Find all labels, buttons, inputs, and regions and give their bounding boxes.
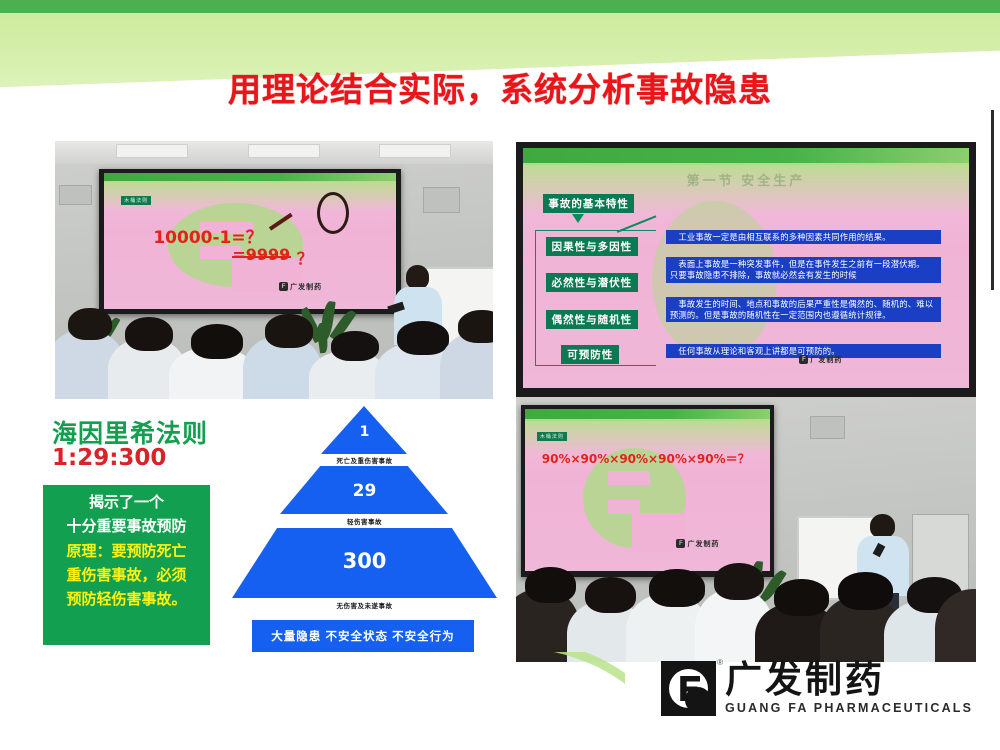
- slide-section-title: 第一节 安全生产: [523, 170, 968, 189]
- slide-heading: 事故的基本特性: [543, 194, 634, 213]
- audience: [55, 291, 493, 399]
- characteristic-item-3: 偶然性与随机性: [546, 310, 639, 329]
- characteristic-desc-1: 工业事故一定是由相互联系的多种因素共同作用的结果。: [666, 230, 941, 245]
- brand-mark-icon: F: [799, 355, 808, 364]
- audience-head: [125, 317, 173, 352]
- audience-head: [774, 579, 829, 616]
- audience-head: [714, 563, 765, 600]
- pyramid-base-label: 大量隐患 不安全状态 不安全行为: [271, 628, 454, 644]
- statement-line-2: 十分重要事故预防: [49, 514, 204, 538]
- audience: [516, 540, 976, 662]
- statement-line-1: 揭示了一个: [49, 490, 204, 514]
- slide-brand-logo: F 广发制药: [799, 355, 842, 365]
- heinrich-statement-box: 揭示了一个 十分重要事故预防 原理：要预防死亡 重伤害事故，必须 预防轻伤害事故…: [43, 485, 210, 645]
- wall-speaker: [423, 187, 460, 212]
- audience-head: [265, 314, 313, 348]
- registered-mark: ®: [717, 658, 723, 667]
- projection-screen: 第一节 安全生产 事故的基本特性 因果性与多因性 必然性与潜伏性 偶然性与随机性…: [516, 142, 976, 397]
- projected-slide: 木桶法则 10000-1=？ =9999 ？ F 广发制药: [104, 173, 397, 309]
- guangfa-mark-icon: ®: [661, 661, 716, 716]
- presenter-head: [870, 514, 895, 538]
- bottom-green-swoosh: [495, 652, 625, 698]
- characteristic-item-2: 必然性与潜伏性: [546, 273, 639, 292]
- company-name-cn: 广发制药: [725, 661, 973, 698]
- heinrich-ratio: 1:29:300: [52, 445, 166, 471]
- company-name-en: GUANG FA PHARMACEUTICALS: [725, 701, 973, 715]
- audience-head: [68, 308, 112, 341]
- page-title: 用理论结合实际，系统分析事故隐患: [0, 63, 1000, 111]
- presenter-head: [406, 265, 429, 289]
- pyramid-value-2: 29: [232, 481, 497, 501]
- audience-head: [525, 567, 576, 604]
- lecture-photo-top-left: 木桶法则 10000-1=？ =9999 ？ F 广发制药: [55, 141, 493, 399]
- wall-vent: [59, 185, 92, 205]
- right-edge-line: [991, 110, 994, 290]
- pyramid-caption-2: 轻伤害事故: [232, 516, 497, 526]
- audience-head: [191, 324, 244, 359]
- presentation-slide: 用理论结合实际，系统分析事故隐患 木桶法则 10000-1=？ =9999: [0, 0, 1000, 750]
- audience-head: [331, 331, 379, 361]
- characteristic-desc-2: 表面上事故是一种突发事件，但是在事件发生之前有一段潜伏期。 只要事故隐患不排除，…: [666, 257, 941, 282]
- audience-head: [397, 321, 450, 355]
- wall-speaker: [810, 416, 844, 439]
- audience-head: [838, 572, 893, 610]
- characteristic-desc-3: 事故发生的时间、地点和事故的后果严重性是偶然的、随机的、难以预测的。但是事故的随…: [666, 297, 941, 322]
- top-accent-bar: [0, 0, 1000, 13]
- characteristic-item-4: 可预防性: [561, 345, 619, 364]
- pyramid-caption-1: 死亡及重伤害事故: [232, 455, 497, 465]
- slide-tag-label: 木桶法则: [121, 196, 151, 205]
- answer-zero-circle: [317, 192, 349, 234]
- pyramid-value-1: 1: [232, 424, 497, 440]
- equation-line-2-suffix: ？: [297, 245, 313, 269]
- brand-name: 广发制药: [810, 355, 842, 365]
- projected-slide: 第一节 安全生产 事故的基本特性 因果性与多因性 必然性与潜伏性 偶然性与随机性…: [523, 148, 968, 388]
- lecture-photo-bottom-right: 木桶法则 90%×90%×90%×90%×90%＝？ F 广发制药: [516, 397, 976, 662]
- audience-head: [585, 577, 636, 614]
- statement-line-3: 原理：要预防死亡: [49, 539, 204, 563]
- statement-line-4: 重伤害事故，必须: [49, 563, 204, 587]
- statement-line-5: 预防轻伤害事故。: [49, 587, 204, 611]
- ceiling-panel: [248, 144, 320, 159]
- slide-tag-label: 木桶法则: [537, 432, 567, 441]
- pyramid-base-bar: 大量隐患 不安全状态 不安全行为: [252, 620, 474, 652]
- ceiling-panel: [379, 144, 451, 159]
- percent-equation: 90%×90%×90%×90%×90%＝？: [542, 450, 750, 467]
- equation-line-2: =9999: [232, 245, 290, 264]
- ceiling-panel: [116, 144, 188, 159]
- down-arrow-icon: [572, 214, 584, 223]
- audience-head: [458, 310, 493, 343]
- equation-strikethrough: [232, 256, 291, 258]
- slide-photo-top-right: 第一节 安全生产 事故的基本特性 因果性与多因性 必然性与潜伏性 偶然性与随机性…: [516, 142, 976, 397]
- logo-swoop: [685, 687, 711, 713]
- audience-head: [649, 569, 704, 607]
- pyramid-caption-3: 无伤害及未遂事故: [232, 600, 497, 610]
- f-leaf-cut: [608, 471, 650, 486]
- characteristic-item-1: 因果性与多因性: [546, 237, 639, 256]
- pyramid-value-3: 300: [232, 549, 497, 573]
- heinrich-pyramid-chart: 1 死亡及重伤害事故 29 轻伤害事故 300 无伤害及未遂事故 大量隐患 不安…: [232, 406, 497, 660]
- corporate-logo: ® 广发制药 GUANG FA PHARMACEUTICALS: [661, 661, 973, 716]
